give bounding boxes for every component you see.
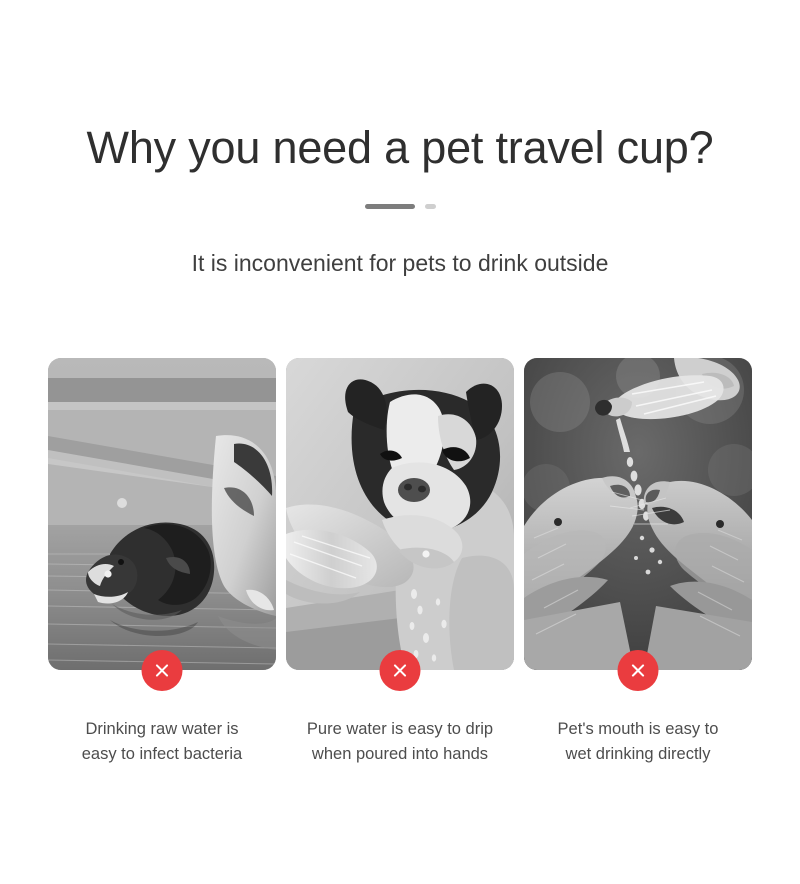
card-caption: Drinking raw water is easy to infect bac…	[44, 717, 280, 767]
card-photo-bottle-pour	[524, 358, 752, 670]
problem-card: Pure water is easy to drip when poured i…	[286, 358, 514, 767]
card-caption: Pet's mouth is easy to wet drinking dire…	[520, 717, 756, 767]
problem-card: Drinking raw water is easy to infect bac…	[48, 358, 276, 767]
cross-badge	[142, 650, 183, 691]
card-photo-hands-pour	[286, 358, 514, 670]
caption-line-2: easy to infect bacteria	[44, 742, 280, 767]
caption-line-2: wet drinking directly	[520, 742, 756, 767]
cross-badge	[380, 650, 421, 691]
title-divider	[0, 204, 800, 209]
page-title: Why you need a pet travel cup?	[0, 118, 800, 178]
photo-wrapper	[48, 358, 276, 670]
promo-page: Why you need a pet travel cup? It is inc…	[0, 0, 800, 884]
problem-cards-row: Drinking raw water is easy to infect bac…	[48, 358, 752, 767]
photo-wrapper	[286, 358, 514, 670]
cross-icon	[153, 661, 172, 680]
divider-bar-short	[425, 204, 436, 209]
cross-badge	[618, 650, 659, 691]
photo-wrapper	[524, 358, 752, 670]
cross-icon	[391, 661, 410, 680]
card-caption: Pure water is easy to drip when poured i…	[282, 717, 518, 767]
cross-icon	[629, 661, 648, 680]
card-photo-raw-water	[48, 358, 276, 670]
caption-line-1: Pure water is easy to drip	[282, 717, 518, 742]
divider-bar-long	[365, 204, 415, 209]
problem-card: Pet's mouth is easy to wet drinking dire…	[524, 358, 752, 767]
caption-line-1: Drinking raw water is	[44, 717, 280, 742]
page-subtitle: It is inconvenient for pets to drink out…	[0, 248, 800, 278]
caption-line-2: when poured into hands	[282, 742, 518, 767]
caption-line-1: Pet's mouth is easy to	[520, 717, 756, 742]
